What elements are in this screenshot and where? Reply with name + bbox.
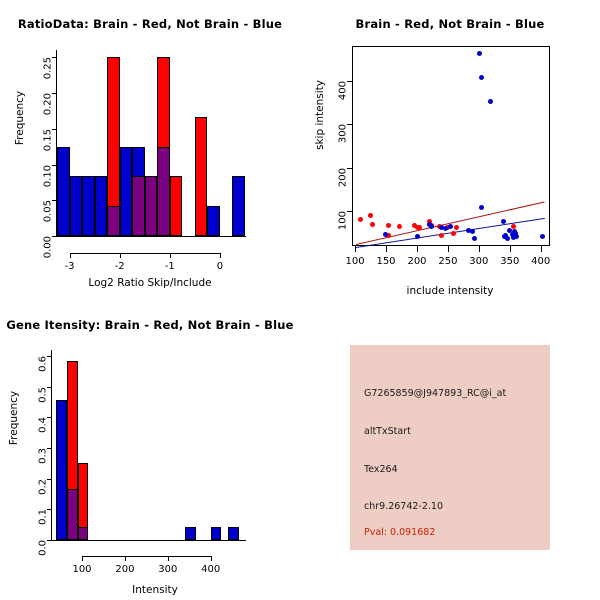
y-tick-label: 0.20	[43, 93, 54, 115]
x-tick	[220, 253, 221, 258]
histogram-bar-blue	[56, 400, 67, 540]
histogram-bar-overlap	[107, 206, 120, 236]
histogram-bar-overlap	[67, 489, 78, 540]
gene-x-baseline	[51, 540, 246, 541]
scatter-xlabel: include intensity	[350, 285, 550, 297]
ratio-histogram-plot-area	[57, 50, 245, 236]
histogram-bar-overlap	[157, 147, 170, 236]
gene-histogram-title: Gene Itensity: Brain - Red, Not Brain - …	[0, 318, 300, 332]
x-tick-label: -3	[65, 261, 75, 272]
scatter-point-blue	[470, 229, 475, 234]
x-tick-label: 200	[115, 564, 134, 575]
histogram-bar-overlap	[145, 176, 158, 236]
x-tick	[82, 556, 83, 561]
histogram-bar-blue	[95, 176, 108, 236]
ratio-x-baseline	[56, 236, 246, 237]
x-tick	[386, 246, 387, 252]
y-tick-label: 0.1	[38, 509, 49, 525]
scatter-point-red	[358, 217, 363, 222]
x-tick	[541, 246, 542, 252]
scatter-title: Brain - Red, Not Brain - Blue	[300, 17, 600, 31]
x-tick	[211, 556, 212, 561]
scatter-point-blue	[472, 236, 477, 241]
x-tick	[125, 556, 126, 561]
histogram-bar-blue	[207, 206, 220, 236]
y-tick-label: 0.25	[43, 57, 54, 79]
y-tick-label: 0.4	[38, 417, 49, 433]
scatter-point-blue	[540, 234, 545, 239]
ratio-y-axis	[56, 50, 57, 237]
scatter-point-blue	[488, 99, 493, 104]
y-tick-label: 0.05	[43, 200, 54, 222]
x-axis-rule	[82, 556, 211, 557]
scatter-point-red	[454, 225, 459, 230]
histogram-bar-red	[195, 117, 208, 236]
x-tick	[448, 246, 449, 252]
scatter-point-red	[368, 213, 373, 218]
x-tick-label: 0	[217, 261, 223, 272]
ratio-histogram-ylabel: Frequency	[14, 58, 26, 178]
scatter-point-blue	[479, 205, 484, 210]
y-tick-label: 400	[338, 81, 349, 100]
scatter-point-red	[451, 231, 456, 236]
x-tick-label: 300	[469, 256, 488, 267]
info-event-type: altTxStart	[364, 426, 411, 437]
info-gene-symbol: Tex264	[364, 464, 398, 475]
scatter-point-blue	[448, 224, 453, 229]
y-tick-label: 0.0	[38, 540, 49, 556]
x-tick-label: 150	[376, 256, 395, 267]
scatter-point-blue	[429, 224, 434, 229]
x-tick-label: 200	[407, 256, 426, 267]
y-tick-label: 0.00	[43, 236, 54, 258]
scatter-ylabel: skip intensity	[314, 55, 326, 175]
panel-intensity-scatter: Brain - Red, Not Brain - Blue skip inten…	[300, 0, 600, 300]
y-tick-label: 0.3	[38, 448, 49, 464]
ratio-histogram-xlabel: Log2 Ratio Skip/Include	[50, 277, 250, 289]
scatter-point-red	[397, 224, 402, 229]
panel-gene-histogram: Gene Itensity: Brain - Red, Not Brain - …	[0, 300, 300, 600]
info-pval: Pval: 0.091682	[364, 527, 435, 538]
x-tick-label: -2	[115, 261, 125, 272]
x-tick-label: 400	[201, 564, 220, 575]
scatter-point-red	[511, 224, 516, 229]
histogram-bar-overlap	[132, 176, 145, 236]
scatter-point-red	[370, 222, 375, 227]
gene-histogram-xlabel: Intensity	[55, 584, 255, 596]
histogram-bar-blue	[185, 527, 196, 540]
scatter-point-blue	[514, 234, 519, 239]
x-tick-label: 100	[346, 256, 365, 267]
gene-y-axis	[51, 350, 52, 541]
x-tick	[70, 253, 71, 258]
scatter-point-blue	[505, 236, 510, 241]
x-tick-label: 100	[72, 564, 91, 575]
histogram-bar-blue	[70, 176, 83, 236]
histogram-bar-blue	[228, 527, 239, 540]
histogram-bar-blue	[211, 527, 222, 540]
x-tick	[417, 246, 418, 252]
x-tick	[168, 556, 169, 561]
x-tick-label: 250	[438, 256, 457, 267]
y-tick-label: 100	[338, 211, 349, 230]
gene-histogram-ylabel: Frequency	[8, 358, 20, 478]
x-tick	[120, 253, 121, 258]
histogram-bar-overlap	[78, 527, 89, 540]
ratio-histogram-title: RatioData: Brain - Red, Not Brain - Blue	[0, 17, 300, 31]
y-tick-label: 0.5	[38, 387, 49, 403]
x-tick-label: 350	[500, 256, 519, 267]
x-tick	[510, 246, 511, 252]
x-tick	[355, 246, 356, 252]
scatter-point-blue	[477, 51, 482, 56]
x-tick	[170, 253, 171, 258]
panel-ratio-histogram: RatioData: Brain - Red, Not Brain - Blue…	[0, 0, 300, 300]
y-tick-label: 0.6	[38, 356, 49, 372]
y-tick-label: 0.10	[43, 165, 54, 187]
gene-info-panel: G7265859@J947893_RC@i_at altTxStart Tex2…	[350, 345, 550, 550]
figure-canvas: RatioData: Brain - Red, Not Brain - Blue…	[0, 0, 600, 600]
y-tick-label: 0.15	[43, 129, 54, 151]
scatter-point-red	[386, 223, 391, 228]
gene-histogram-plot-area	[52, 350, 245, 540]
x-tick-label: 300	[158, 564, 177, 575]
y-tick-label: 0.2	[38, 479, 49, 495]
histogram-bar-blue	[57, 147, 70, 236]
x-tick-label: 400	[531, 256, 550, 267]
y-tick-label: 300	[338, 124, 349, 143]
x-tick	[479, 246, 480, 252]
histogram-bar-blue	[82, 176, 95, 236]
x-axis-rule	[70, 253, 220, 254]
info-locus: chr9.26742-2.10	[364, 501, 443, 512]
info-probe-id: G7265859@J947893_RC@i_at	[364, 388, 506, 399]
scatter-point-red	[439, 233, 444, 238]
scatter-plot-frame	[352, 46, 550, 246]
scatter-point-blue	[479, 75, 484, 80]
histogram-bar-red	[170, 176, 183, 236]
y-tick-label: 200	[338, 168, 349, 187]
histogram-bar-blue	[232, 176, 245, 236]
x-tick-label: -1	[165, 261, 175, 272]
histogram-bar-blue	[120, 147, 133, 236]
